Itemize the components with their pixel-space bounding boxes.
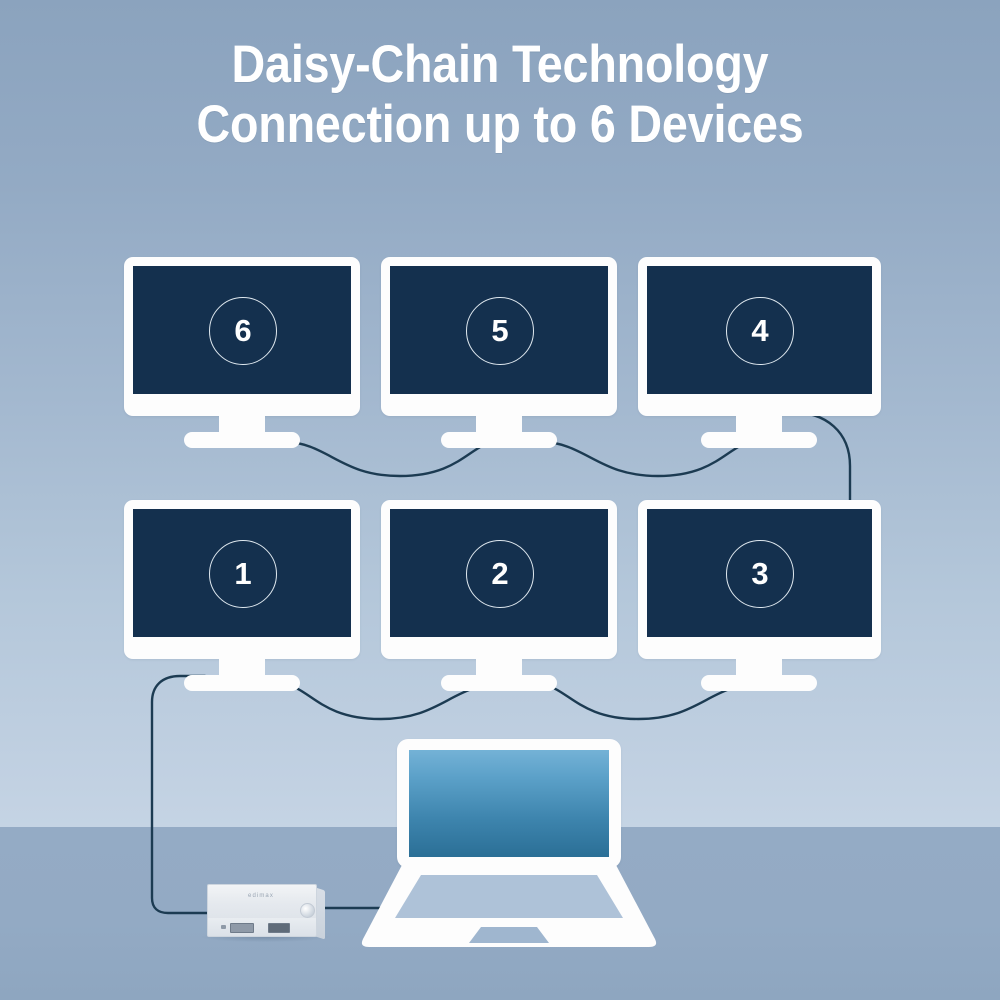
monitor-number: 3: [751, 556, 768, 592]
monitor-stand-base: [701, 675, 817, 691]
monitor-number-badge: 5: [466, 297, 534, 365]
docking-station[interactable]: edimax: [207, 884, 325, 940]
monitor-number: 5: [491, 313, 508, 349]
monitor-stand-base: [184, 432, 300, 448]
dock-dial-icon: [300, 903, 315, 918]
laptop-trackpad: [469, 927, 549, 943]
monitor-1[interactable]: 1: [124, 500, 360, 690]
monitor-number-badge: 6: [209, 297, 277, 365]
monitor-number: 1: [234, 556, 251, 592]
monitor-number-badge: 1: [209, 540, 277, 608]
monitor-4[interactable]: 4: [638, 257, 881, 447]
laptop-base: [359, 859, 659, 949]
monitor-5[interactable]: 5: [381, 257, 617, 447]
monitor-number-badge: 4: [726, 297, 794, 365]
monitor-number-badge: 3: [726, 540, 794, 608]
monitor-number: 6: [234, 313, 251, 349]
dock-brand-logo: edimax: [207, 893, 315, 899]
daisy-chain-diagram: Daisy-Chain Technology Connection up to …: [0, 0, 1000, 1000]
dock-led-indicator: [221, 925, 226, 929]
laptop-keyboard: [395, 875, 623, 918]
monitor-stand-base: [701, 432, 817, 448]
dock-port-usb[interactable]: [268, 923, 290, 933]
monitor-number-badge: 2: [466, 540, 534, 608]
monitor-stand-base: [184, 675, 300, 691]
monitor-2[interactable]: 2: [381, 500, 617, 690]
page-title: Daisy-Chain Technology Connection up to …: [60, 38, 940, 152]
monitor-number: 4: [751, 313, 768, 349]
title-line-2: Connection up to 6 Devices: [60, 98, 940, 152]
monitor-stand-base: [441, 432, 557, 448]
dock-port-hdmi[interactable]: [230, 923, 254, 933]
monitor-6[interactable]: 6: [124, 257, 360, 447]
monitor-stand-base: [441, 675, 557, 691]
laptop[interactable]: [359, 739, 659, 949]
monitor-number: 2: [491, 556, 508, 592]
title-line-1: Daisy-Chain Technology: [232, 35, 769, 94]
monitor-3[interactable]: 3: [638, 500, 881, 690]
laptop-screen: [409, 750, 609, 857]
